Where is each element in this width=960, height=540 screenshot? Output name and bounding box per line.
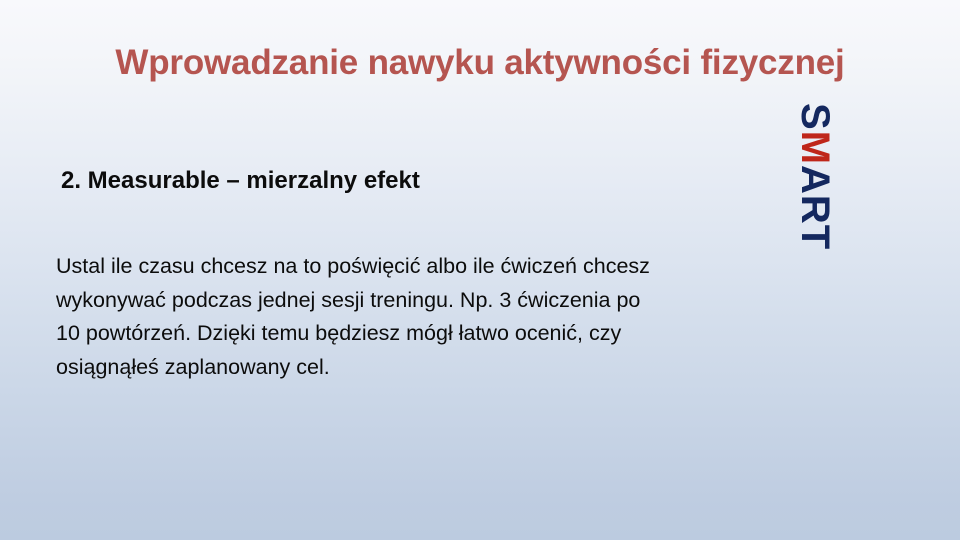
smart-acronym-letters: SMART	[795, 103, 835, 250]
smart-letter-m: M	[795, 131, 835, 165]
smart-letter-t: T	[795, 225, 835, 250]
section-heading: 2. Measurable – mierzalny efekt	[61, 166, 420, 196]
smart-letter-a: A	[795, 165, 835, 195]
smart-letter-s: S	[795, 103, 835, 131]
body-line: 10 powtórzeń. Dzięki temu będziesz mógł …	[56, 317, 766, 351]
page-title: Wprowadzanie nawyku aktywności fizycznej	[0, 42, 960, 84]
body-line: Ustal ile czasu chcesz na to poświęcić a…	[56, 250, 766, 284]
body-line: osiągnąłeś zaplanowany cel.	[56, 351, 766, 385]
body-paragraph: Ustal ile czasu chcesz na to poświęcić a…	[56, 250, 766, 384]
smart-letter-r: R	[795, 195, 835, 225]
body-line: wykonywać podczas jednej sesji treningu.…	[56, 284, 766, 318]
slide-canvas: Wprowadzanie nawyku aktywności fizycznej…	[0, 0, 960, 540]
